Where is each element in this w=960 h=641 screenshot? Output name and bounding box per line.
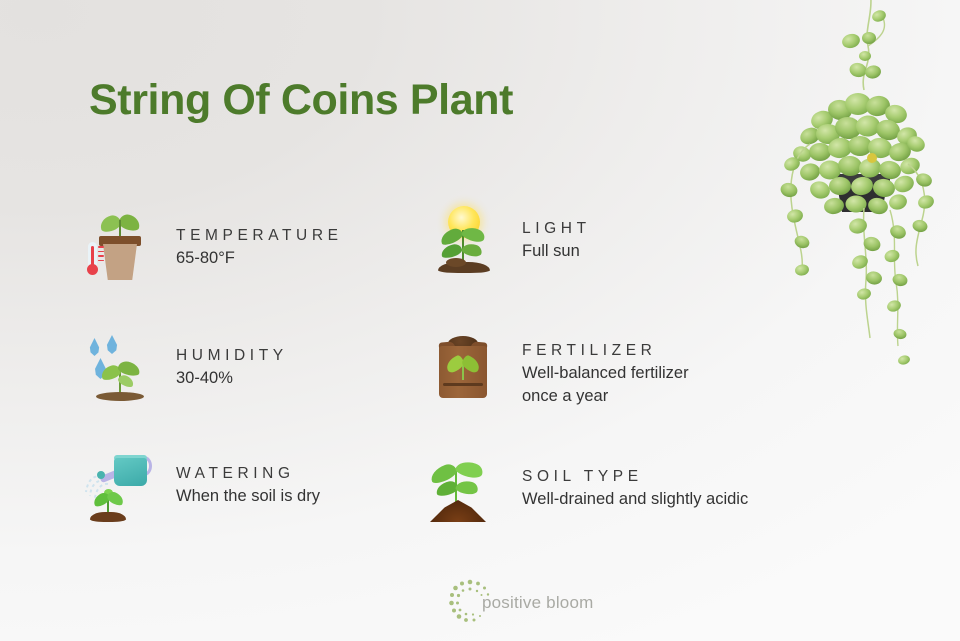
care-text-block: WATERING When the soil is dry	[148, 452, 320, 508]
care-label: LIGHT	[522, 218, 591, 240]
fertilizer-sack-icon	[428, 330, 502, 404]
water-droplet-shape	[106, 335, 118, 354]
infographic-canvas: String Of Coins Plant TEMPERATURE 65-80°…	[0, 0, 960, 641]
leaf-shape	[455, 479, 479, 497]
care-text-block: SOIL TYPE Well-drained and slightly acid…	[496, 452, 748, 511]
soil-shape	[96, 392, 144, 401]
leaf-shape	[461, 241, 484, 258]
water-droplets-sprout-icon	[82, 332, 156, 406]
care-label: SOIL TYPE	[522, 466, 748, 488]
care-text-block: LIGHT Full sun	[502, 204, 591, 263]
care-label: HUMIDITY	[176, 345, 288, 367]
care-item-light: LIGHT Full sun	[428, 204, 591, 278]
care-item-soil-type: SOIL TYPE Well-drained and slightly acid…	[422, 452, 748, 526]
soil-shape	[90, 512, 126, 522]
care-label: WATERING	[176, 463, 320, 485]
page-title: String Of Coins Plant	[89, 74, 513, 126]
care-value: 30-40%	[176, 367, 288, 390]
care-text-block: HUMIDITY 30-40%	[156, 332, 288, 390]
care-value: Well-drained and slightly acidic	[522, 488, 748, 511]
brand-logo: positive bloom	[446, 576, 636, 626]
care-value: Well-balanced fertilizer	[522, 362, 689, 385]
leaf-shape	[117, 213, 141, 233]
sun-sprout-icon	[428, 204, 502, 278]
thermometer-ticks-shape	[98, 246, 105, 264]
leaf-shape	[454, 458, 484, 481]
pot-body-shape	[103, 244, 137, 280]
brand-name: positive bloom	[482, 593, 593, 613]
thermometer-bulb-shape	[87, 264, 98, 275]
care-label: TEMPERATURE	[176, 225, 343, 247]
water-droplet-shape	[89, 338, 100, 356]
potted-plant-thermometer-icon	[82, 212, 156, 286]
leaf-shape	[440, 243, 463, 260]
watering-can-icon	[74, 452, 148, 526]
care-label: FERTILIZER	[522, 340, 689, 362]
soil-shape	[446, 258, 466, 267]
care-item-fertilizer: FERTILIZER Well-balanced fertilizer once…	[428, 330, 689, 407]
sprout-soil-mound-icon	[422, 452, 496, 526]
sack-band-shape	[443, 383, 483, 386]
care-item-temperature: TEMPERATURE 65-80°F	[82, 212, 343, 286]
care-item-humidity: HUMIDITY 30-40%	[82, 332, 288, 406]
care-value: 65-80°F	[176, 247, 343, 270]
care-value-second-line: once a year	[522, 385, 689, 408]
soil-mound-shape	[430, 500, 486, 522]
care-text-block: TEMPERATURE 65-80°F	[156, 212, 343, 270]
care-value: When the soil is dry	[176, 485, 320, 508]
care-value: Full sun	[522, 240, 591, 263]
care-item-watering: WATERING When the soil is dry	[74, 452, 320, 526]
watering-can-nozzle-shape	[97, 471, 105, 479]
watering-can-body-shape	[114, 458, 147, 486]
string-of-coins-hanging-plant-photo	[752, 0, 960, 394]
care-text-block: FERTILIZER Well-balanced fertilizer once…	[502, 330, 689, 407]
